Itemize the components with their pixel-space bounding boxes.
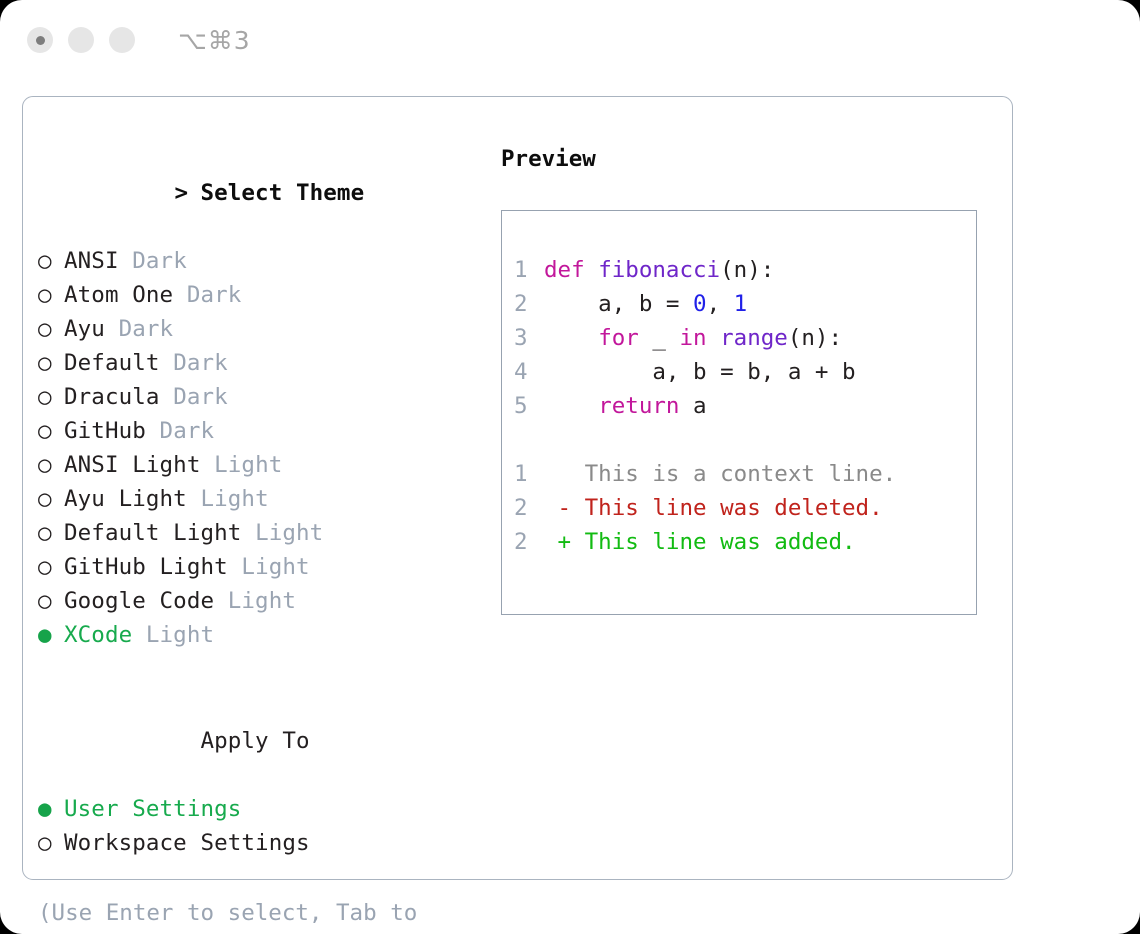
radio-unselected-icon: ○ (38, 448, 64, 482)
theme-list-item[interactable]: ○GitHub Light Light (38, 550, 488, 584)
main-panel: >Select Theme ○ANSI Dark○Atom One Dark○A… (22, 96, 1013, 880)
diff-sample: 1 This is a context line.2 - This line w… (514, 457, 976, 559)
theme-name: Default (64, 350, 160, 376)
theme-kind-badge: Dark (173, 384, 228, 410)
diff-line-text-del: - This line was deleted. (544, 495, 883, 521)
code-sample: 1def fibonacci(n):2 a, b = 0, 13 for _ i… (514, 253, 976, 423)
code-line: 4 a, b = b, a + b (514, 355, 976, 389)
theme-list-item[interactable]: ○Ayu Dark (38, 312, 488, 346)
theme-kind-badge: Dark (160, 418, 215, 444)
radio-unselected-icon: ○ (38, 826, 64, 860)
code-line-number: 3 (514, 321, 544, 355)
radio-unselected-icon: ○ (38, 584, 64, 618)
theme-kind-badge: Light (255, 520, 323, 546)
code-diff-spacer (514, 423, 976, 457)
radio-selected-icon: ● (38, 792, 64, 826)
code-token-num: 0 (693, 291, 707, 317)
code-line-number: 5 (514, 389, 544, 423)
diff-line-text-add: + This line was added. (544, 529, 856, 555)
diff-line: 1 This is a context line. (514, 457, 976, 491)
theme-name: ANSI (64, 248, 119, 274)
theme-name: Google Code (64, 588, 214, 614)
theme-list: ○ANSI Dark○Atom One Dark○Ayu Dark○Defaul… (38, 244, 488, 652)
apply-to-header: Apply To (38, 690, 488, 792)
window-dot-inner (36, 36, 45, 45)
apply-to-label: User Settings (64, 796, 241, 822)
theme-kind-badge: Light (241, 554, 309, 580)
radio-unselected-icon: ○ (38, 414, 64, 448)
diff-line: 2 + This line was added. (514, 525, 976, 559)
diff-line: 2 - This line was deleted. (514, 491, 976, 525)
theme-kind-badge: Light (214, 452, 282, 478)
code-token-pl: (n): (720, 257, 774, 283)
radio-unselected-icon: ○ (38, 312, 64, 346)
theme-kind-badge: Dark (119, 316, 174, 342)
theme-kind-badge: Dark (187, 282, 242, 308)
title-bar: ⌥⌘3 (0, 0, 1140, 80)
theme-kind-badge: Light (146, 622, 214, 648)
select-theme-header: >Select Theme (38, 142, 488, 244)
preview-box: 1def fibonacci(n):2 a, b = 0, 13 for _ i… (501, 210, 977, 615)
theme-name: Ayu (64, 316, 105, 342)
radio-unselected-icon: ○ (38, 244, 64, 278)
window-dot-3[interactable] (109, 27, 135, 53)
code-line: 3 for _ in range(n): (514, 321, 976, 355)
keyboard-shortcut-label: ⌥⌘3 (178, 26, 251, 55)
apply-to-list: ●User Settings○Workspace Settings (38, 792, 488, 860)
code-token-pl: _ (639, 325, 680, 351)
code-line-number: 4 (514, 355, 544, 389)
theme-list-item[interactable]: ○Ayu Light Light (38, 482, 488, 516)
code-token-num: 1 (734, 291, 748, 317)
theme-list-item[interactable]: ○Default Light Light (38, 516, 488, 550)
theme-name: Ayu Light (64, 486, 187, 512)
theme-kind-badge: Light (200, 486, 268, 512)
theme-picker-column: >Select Theme ○ANSI Dark○Atom One Dark○A… (38, 142, 488, 934)
radio-unselected-icon: ○ (38, 346, 64, 380)
theme-name: Default Light (64, 520, 241, 546)
code-line-number: 2 (514, 287, 544, 321)
theme-kind-badge: Light (228, 588, 296, 614)
theme-list-item[interactable]: ○Default Dark (38, 346, 488, 380)
code-line-number: 1 (514, 253, 544, 287)
code-token-kw: return (598, 393, 679, 419)
theme-name: GitHub Light (64, 554, 228, 580)
select-theme-header-label: Select Theme (200, 180, 364, 206)
apply-to-header-label: Apply To (200, 728, 309, 754)
radio-unselected-icon: ○ (38, 516, 64, 550)
preview-column: Preview 1def fibonacci(n):2 a, b = 0, 13… (501, 142, 1001, 615)
preview-title: Preview (501, 142, 1001, 176)
code-token-fn: fibonacci (598, 257, 720, 283)
code-token-kw: def (544, 257, 598, 283)
diff-line-number: 2 (514, 525, 544, 559)
radio-selected-icon: ● (38, 618, 64, 652)
prompt-caret-icon: > (174, 176, 200, 210)
code-token-kw: in (679, 325, 706, 351)
theme-name: Atom One (64, 282, 173, 308)
theme-list-item[interactable]: ○ANSI Dark (38, 244, 488, 278)
code-token-pl (707, 325, 721, 351)
diff-line-text-ctx: This is a context line. (544, 461, 896, 487)
code-token-fn: range (720, 325, 788, 351)
apply-to-item[interactable]: ●User Settings (38, 792, 488, 826)
app-window: ⌥⌘3 >Select Theme ○ANSI Dark○Atom One Da… (0, 0, 1140, 934)
diff-line-number: 1 (514, 457, 544, 491)
theme-list-item[interactable]: ○Atom One Dark (38, 278, 488, 312)
code-token-pl: a (679, 393, 706, 419)
window-dot-active[interactable] (27, 27, 53, 53)
theme-list-item[interactable]: ○GitHub Dark (38, 414, 488, 448)
theme-name: GitHub (64, 418, 146, 444)
window-dot-2[interactable] (68, 27, 94, 53)
section-spacer (38, 652, 488, 690)
code-token-pl: a, b = (544, 291, 693, 317)
radio-unselected-icon: ○ (38, 278, 64, 312)
theme-list-item[interactable]: ●XCode Light (38, 618, 488, 652)
keyboard-hint: (Use Enter to select, Tab to change focu… (38, 896, 458, 934)
code-line: 1def fibonacci(n): (514, 253, 976, 287)
code-token-pl (544, 393, 598, 419)
radio-unselected-icon: ○ (38, 482, 64, 516)
code-line: 2 a, b = 0, 1 (514, 287, 976, 321)
code-line: 5 return a (514, 389, 976, 423)
theme-kind-badge: Dark (132, 248, 187, 274)
theme-name: XCode (64, 622, 132, 648)
code-token-pl (544, 325, 598, 351)
apply-to-item[interactable]: ○Workspace Settings (38, 826, 488, 860)
theme-kind-badge: Dark (173, 350, 228, 376)
code-token-kw: for (598, 325, 639, 351)
theme-name: ANSI Light (64, 452, 200, 478)
theme-list-item[interactable]: ○Dracula Dark (38, 380, 488, 414)
code-token-pl: , (707, 291, 734, 317)
radio-unselected-icon: ○ (38, 380, 64, 414)
apply-to-label: Workspace Settings (64, 830, 310, 856)
radio-unselected-icon: ○ (38, 550, 64, 584)
diff-line-number: 2 (514, 491, 544, 525)
code-token-pl: a, b = b, a + b (544, 359, 856, 385)
code-token-pl: (n): (788, 325, 842, 351)
theme-list-item[interactable]: ○Google Code Light (38, 584, 488, 618)
theme-list-item[interactable]: ○ANSI Light Light (38, 448, 488, 482)
theme-name: Dracula (64, 384, 160, 410)
